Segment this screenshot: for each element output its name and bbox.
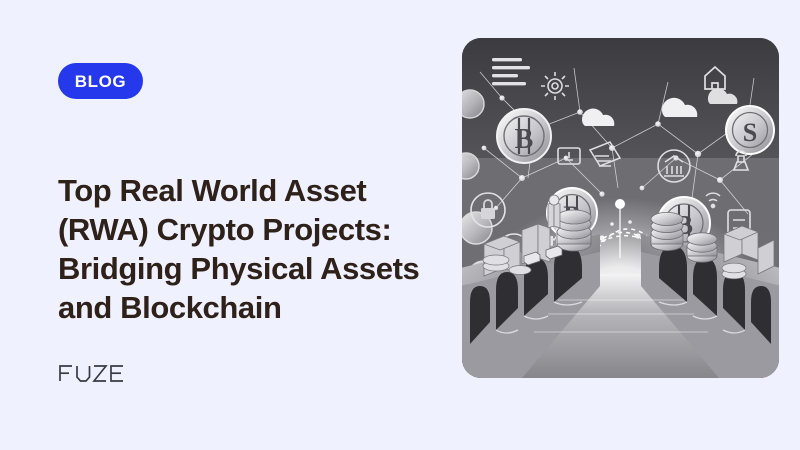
blog-badge-label: BLOG — [75, 73, 127, 90]
coin-stack-icon — [557, 210, 591, 251]
blog-badge[interactable]: BLOG — [58, 63, 143, 99]
article-illustration: B B B S — [462, 38, 779, 378]
svg-text:S: S — [743, 118, 757, 147]
svg-text:B: B — [515, 124, 534, 155]
bitcoin-coin-icon: S — [726, 106, 774, 154]
fuze-logo[interactable] — [58, 362, 126, 384]
blog-header-card: BLOG Top Real World Asset (RWA) Crypto P… — [0, 0, 800, 450]
bitcoin-coin-icon: B — [497, 109, 551, 163]
page-title: Top Real World Asset (RWA) Crypto Projec… — [58, 171, 438, 327]
